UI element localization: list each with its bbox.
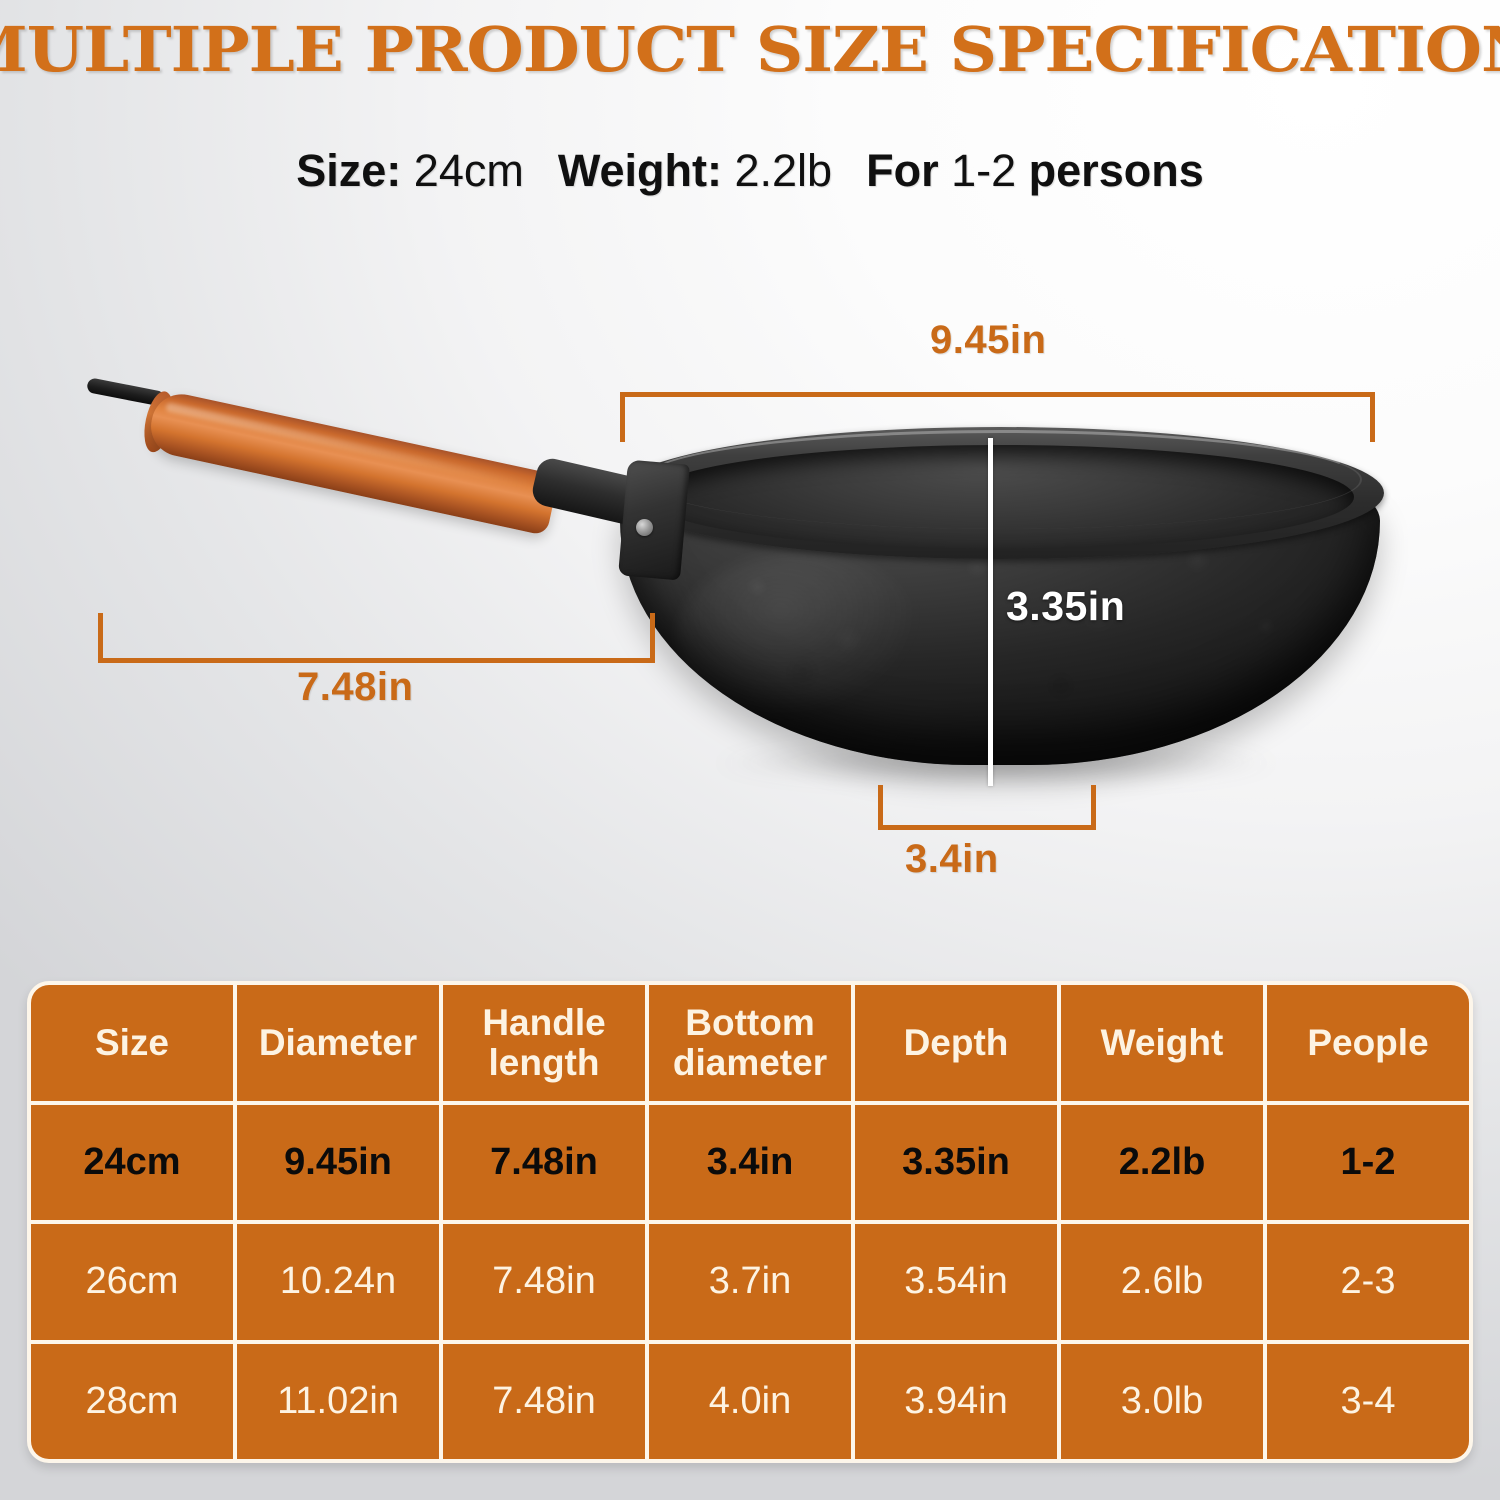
bottom-diameter-dimension-label: 3.4in (905, 837, 999, 882)
column-header-bottom-diameter: Bottom diameter (649, 985, 851, 1101)
cell-diameter: 11.02in (237, 1344, 439, 1460)
column-header-handle-length: Handle length (443, 985, 645, 1101)
cell-people: 2-3 (1267, 1224, 1469, 1340)
handle-length-bracket (98, 613, 655, 663)
column-header-diameter: Diameter (237, 985, 439, 1101)
bottom-diameter-bracket (878, 785, 1096, 830)
cell-size: 26cm (31, 1224, 233, 1340)
diameter-dimension-label: 9.45in (930, 318, 1046, 363)
depth-dimension-label: 3.35in (1006, 583, 1125, 630)
spec-summary-line: Size: 24cmWeight: 2.2lbFor 1-2 persons (0, 143, 1500, 199)
handle-mount-plate (618, 460, 690, 581)
cell-people: 1-2 (1267, 1105, 1469, 1221)
for-label: For (866, 145, 939, 196)
size-label: Size: (296, 145, 401, 196)
cell-bottom-diameter: 3.7in (649, 1224, 851, 1340)
wok-handle (80, 380, 700, 600)
cell-size: 24cm (31, 1105, 233, 1221)
cell-depth: 3.94in (855, 1344, 1057, 1460)
persons-label: persons (1029, 145, 1204, 196)
column-header-depth: Depth (855, 985, 1057, 1101)
cell-weight: 3.0lb (1061, 1344, 1263, 1460)
table-row: 28cm 11.02in 7.48in 4.0in 3.94in 3.0lb 3… (31, 1344, 1469, 1460)
handle-length-dimension-label: 7.48in (297, 665, 413, 710)
cell-weight: 2.6lb (1061, 1224, 1263, 1340)
wok-bowl (620, 435, 1380, 780)
table-row: 24cm 9.45in 7.48in 3.4in 3.35in 2.2lb 1-… (31, 1105, 1469, 1221)
column-header-people: People (1267, 985, 1469, 1101)
weight-label: Weight: (558, 145, 722, 196)
cell-size: 28cm (31, 1344, 233, 1460)
cell-diameter: 10.24n (237, 1224, 439, 1340)
cell-depth: 3.54in (855, 1224, 1057, 1340)
cell-diameter: 9.45in (237, 1105, 439, 1221)
diameter-bracket (620, 392, 1375, 442)
cell-people: 3-4 (1267, 1344, 1469, 1460)
cell-depth: 3.35in (855, 1105, 1057, 1221)
column-header-size: Size (31, 985, 233, 1101)
wok-rim-highlight (642, 430, 1362, 529)
cell-weight: 2.2lb (1061, 1105, 1263, 1221)
persons-value: 1-2 (951, 145, 1016, 196)
cell-bottom-diameter: 4.0in (649, 1344, 851, 1460)
handle-rivet (636, 519, 653, 536)
table-header-row: Size Diameter Handle length Bottom diame… (31, 985, 1469, 1101)
size-value: 24cm (414, 145, 524, 196)
table-row: 26cm 10.24n 7.48in 3.7in 3.54in 2.6lb 2-… (31, 1224, 1469, 1340)
weight-value: 2.2lb (735, 145, 833, 196)
cell-handle-length: 7.48in (443, 1105, 645, 1221)
wok-sheen (676, 553, 926, 723)
product-diagram: 9.45in 7.48in 3.35in 3.4in (0, 250, 1500, 970)
cell-handle-length: 7.48in (443, 1224, 645, 1340)
column-header-weight: Weight (1061, 985, 1263, 1101)
cell-handle-length: 7.48in (443, 1344, 645, 1460)
specifications-table: Size Diameter Handle length Bottom diame… (27, 981, 1473, 1463)
depth-measure-line (988, 438, 993, 786)
cell-bottom-diameter: 3.4in (649, 1105, 851, 1221)
page-title: MULTIPLE PRODUCT SIZE SPECIFICATIONS (0, 14, 1500, 86)
product-spec-infographic: MULTIPLE PRODUCT SIZE SPECIFICATIONS Siz… (0, 0, 1500, 1500)
